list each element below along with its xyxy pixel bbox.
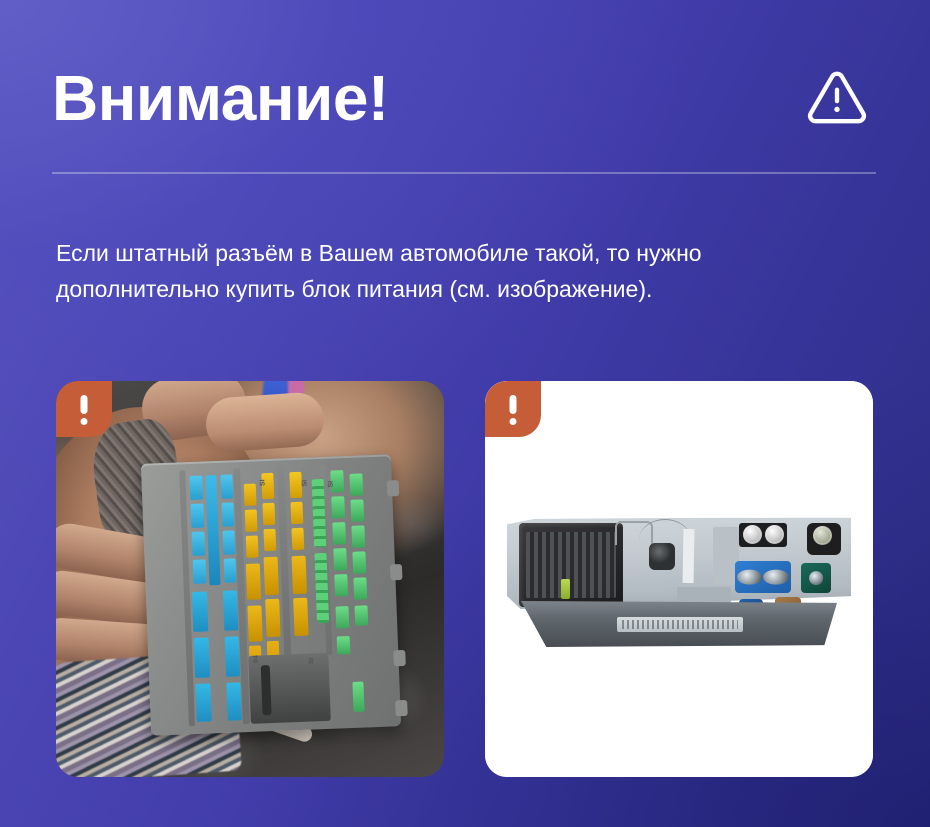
warning-banner: Внимание! Если штатный разъём в Вашем ав… <box>0 0 930 827</box>
body-line-2: дополнительно купить блок питания (см. и… <box>56 272 872 308</box>
exclamation-dot <box>510 418 517 425</box>
page-title: Внимание! <box>52 66 389 130</box>
exclamation-icon <box>81 395 88 414</box>
header-divider <box>52 172 876 174</box>
warning-badge-left <box>56 381 112 437</box>
body-line-1: Если штатный разъём в Вашем автомобиле т… <box>56 236 872 272</box>
power-supply-photo-image <box>485 381 873 777</box>
connector-photo-image: SI SI SI 04 SI <box>56 381 444 777</box>
warning-badge-right <box>485 381 541 437</box>
car-connector: SI SI SI 04 SI <box>141 454 401 735</box>
header: Внимание! <box>52 50 878 146</box>
power-supply-unit <box>507 517 851 647</box>
body-text: Если штатный разъём в Вашем автомобиле т… <box>56 236 872 307</box>
image-gallery: SI SI SI 04 SI <box>56 381 874 777</box>
power-supply-photo-card[interactable] <box>485 381 873 777</box>
warning-triangle-icon <box>804 65 870 131</box>
connector-photo-card[interactable]: SI SI SI 04 SI <box>56 381 444 777</box>
exclamation-icon <box>510 395 517 414</box>
exclamation-dot <box>81 418 88 425</box>
